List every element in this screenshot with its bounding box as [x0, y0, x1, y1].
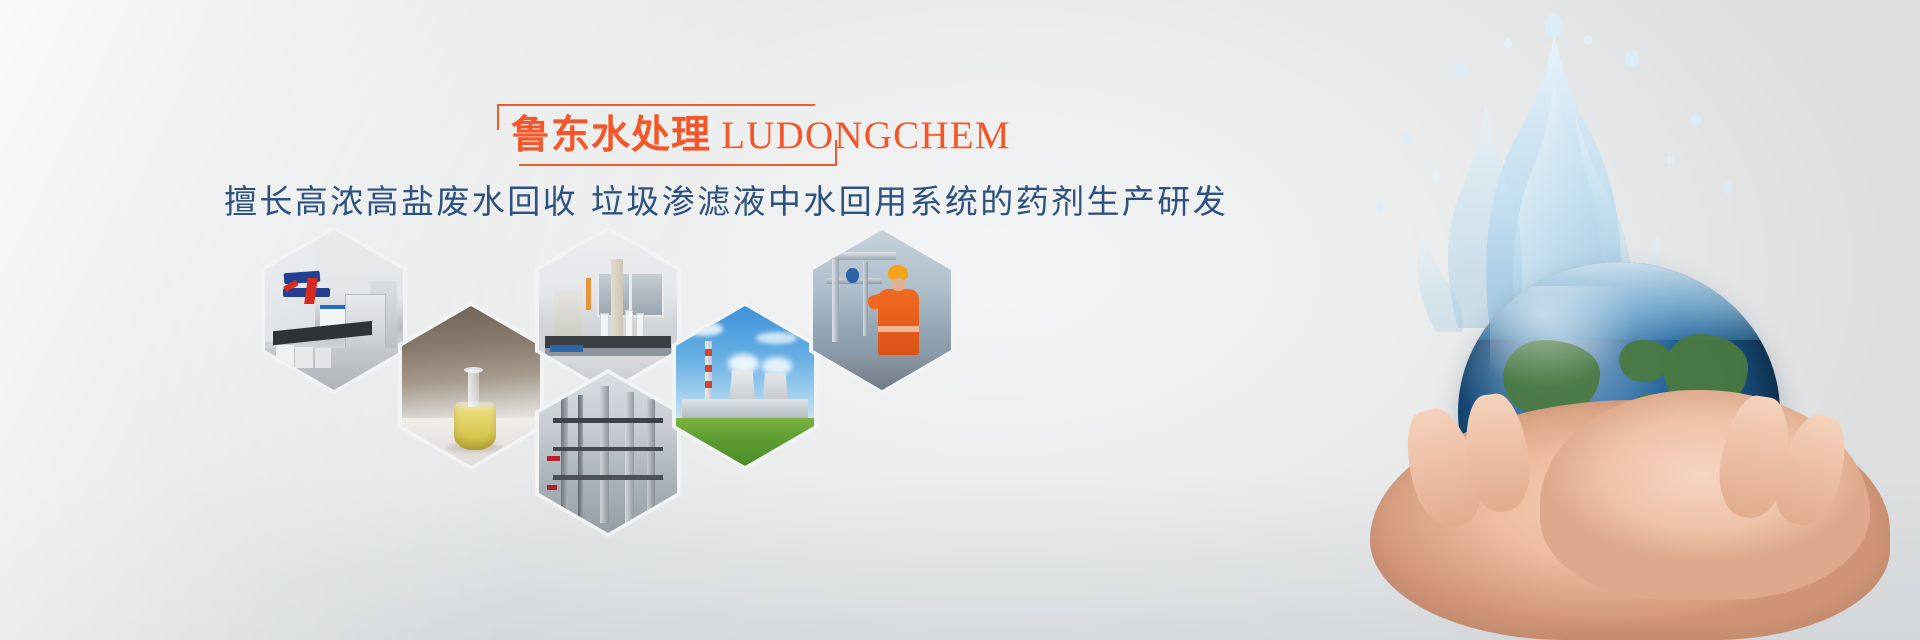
hex-glassware	[535, 226, 681, 394]
hex-piping	[535, 369, 681, 537]
hex-worker	[809, 226, 955, 394]
hex-lab-room	[261, 226, 407, 394]
hands-holding-globe	[1370, 400, 1890, 640]
hex-flask	[398, 302, 544, 470]
hero-banner: 鲁东水处理 LUDONGCHEM 擅长高浓高盐废水回收 垃圾渗滤液中水回用系统的…	[0, 0, 1920, 640]
hex-power-plant	[672, 302, 818, 470]
water-globe-artwork	[1040, 0, 1920, 640]
hexagon-photo-cluster	[0, 0, 1060, 640]
globe-highlight	[1490, 286, 1638, 388]
